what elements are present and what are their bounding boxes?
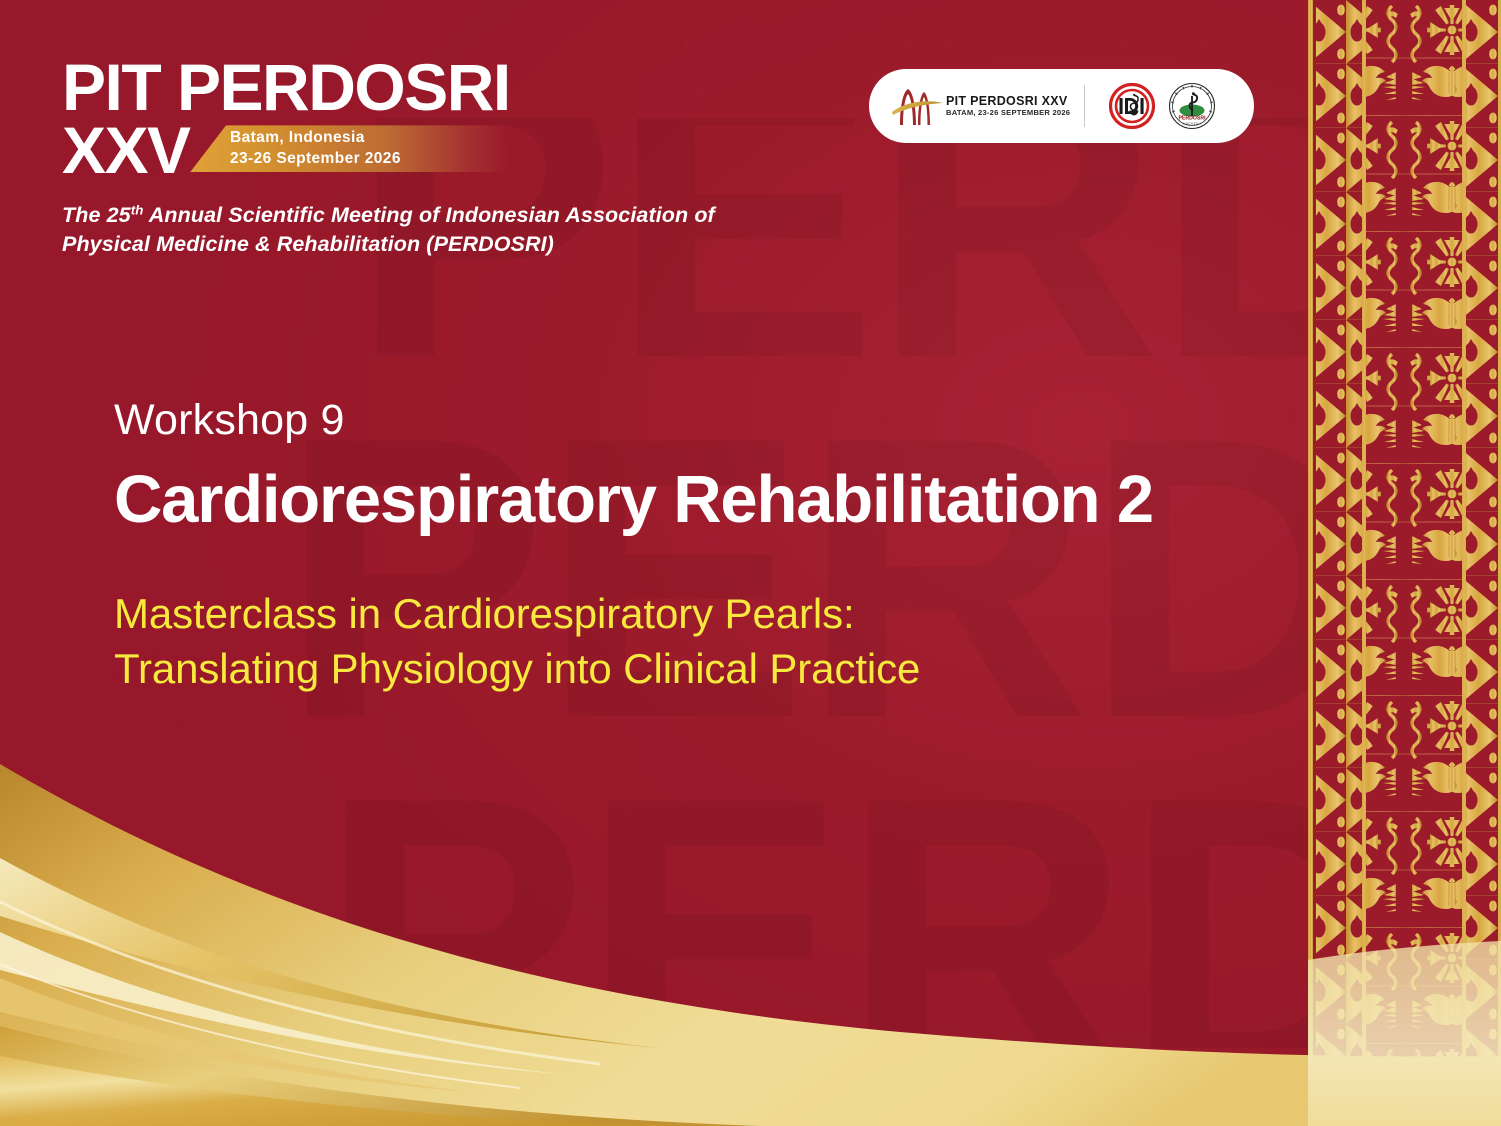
logo-title-line1: PIT PERDOSRI [62,56,762,119]
tagline-ordinal: th [131,203,144,218]
event-tagline: The 25th Annual Scientific Meeting of In… [62,201,762,258]
tagline-suffix: Annual Scientific Meeting of Indonesian … [144,203,715,227]
event-logo-lockup: PIT PERDOSRI XXV Batam, Indonesia 23-26 … [62,56,762,259]
workshop-title: Cardiorespiratory Rehabilitation 2 [114,465,1284,535]
sponsor-logo-badge: PIT PERDOSRI XXV BATAM, 23-26 SEPTEMBER … [869,69,1254,143]
badge-event-lockup: PIT PERDOSRI XXV BATAM, 23-26 SEPTEMBER … [869,69,1084,143]
badge-text-block: PIT PERDOSRI XXV BATAM, 23-26 SEPTEMBER … [946,94,1070,118]
idi-logo-icon [1109,83,1155,129]
logo-title-line2: XXV [62,117,190,183]
perdosri-logo-icon: PERDOSRI INDONESIA [1168,82,1216,130]
gold-wave-decoration [0,726,1501,1126]
tagline-prefix: The 25 [62,203,131,227]
gold-wave-svg [0,726,1501,1126]
badge-event-name: PIT PERDOSRI XXV [946,94,1070,108]
workshop-number-label: Workshop 9 [114,398,1284,443]
perdosri-subtext: INDONESIA [1182,121,1202,125]
workshop-subtitle-line2: Translating Physiology into Clinical Pra… [114,642,1284,697]
logo-title-row2: XXV Batam, Indonesia 23-26 September 202… [62,121,762,179]
badge-event-detail: BATAM, 23-26 SEPTEMBER 2026 [946,108,1070,117]
logo-dates: 23-26 September 2026 [230,149,401,170]
pit-perdosri-arch-icon [891,84,945,128]
workshop-subtitle: Masterclass in Cardiorespiratory Pearls:… [114,587,1284,696]
logo-location: Batam, Indonesia [230,128,401,149]
event-tagline-line1: The 25th Annual Scientific Meeting of In… [62,201,762,230]
badge-org-logos: PERDOSRI INDONESIA [1085,82,1216,130]
workshop-subtitle-line1: Masterclass in Cardiorespiratory Pearls: [114,587,1284,642]
event-tagline-line2: Physical Medicine & Rehabilitation (PERD… [62,230,762,259]
logo-location-dates: Batam, Indonesia 23-26 September 2026 [230,128,401,169]
slide-content: Workshop 9 Cardiorespiratory Rehabilitat… [114,398,1284,697]
presentation-slide: PERDOSRI PERDOSRI PERDOSRI [0,0,1501,1126]
